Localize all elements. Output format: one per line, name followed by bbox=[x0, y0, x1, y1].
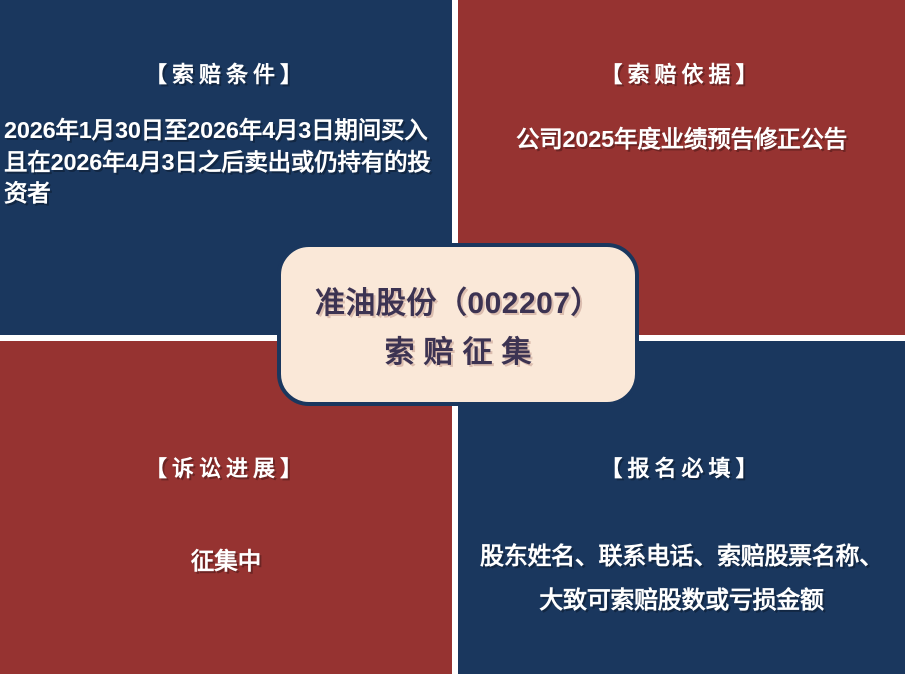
claim-conditions-heading: 【索赔条件】 bbox=[145, 57, 307, 89]
litigation-progress-status: 征集中 bbox=[191, 545, 262, 578]
claim-basis-heading: 【索赔依据】 bbox=[600, 57, 762, 89]
claim-poster: 【索赔条件】 2026年1月30日至2026年4月3日期间买入且在2026年4月… bbox=[0, 0, 905, 674]
stock-title-card: 准油股份（002207） 索赔征集 bbox=[277, 243, 639, 406]
claim-collection-label: 索赔征集 bbox=[376, 327, 541, 371]
registration-required-heading: 【报名必填】 bbox=[600, 451, 762, 483]
litigation-progress-heading: 【诉讼进展】 bbox=[145, 451, 307, 483]
registration-required-line-1: 股东姓名、联系电话、索赔股票名称、 bbox=[480, 535, 883, 579]
claim-basis-body: 公司2025年度业绩预告修正公告 bbox=[516, 123, 847, 156]
registration-required-body: 股东姓名、联系电话、索赔股票名称、 大致可索赔股数或亏损金额 bbox=[480, 535, 883, 624]
claim-conditions-body: 2026年1月30日至2026年4月3日期间买入且在2026年4月3日之后卖出或… bbox=[0, 115, 452, 210]
registration-required-line-2: 大致可索赔股数或亏损金额 bbox=[480, 579, 883, 623]
stock-name-and-code: 准油股份（002207） bbox=[315, 278, 601, 322]
